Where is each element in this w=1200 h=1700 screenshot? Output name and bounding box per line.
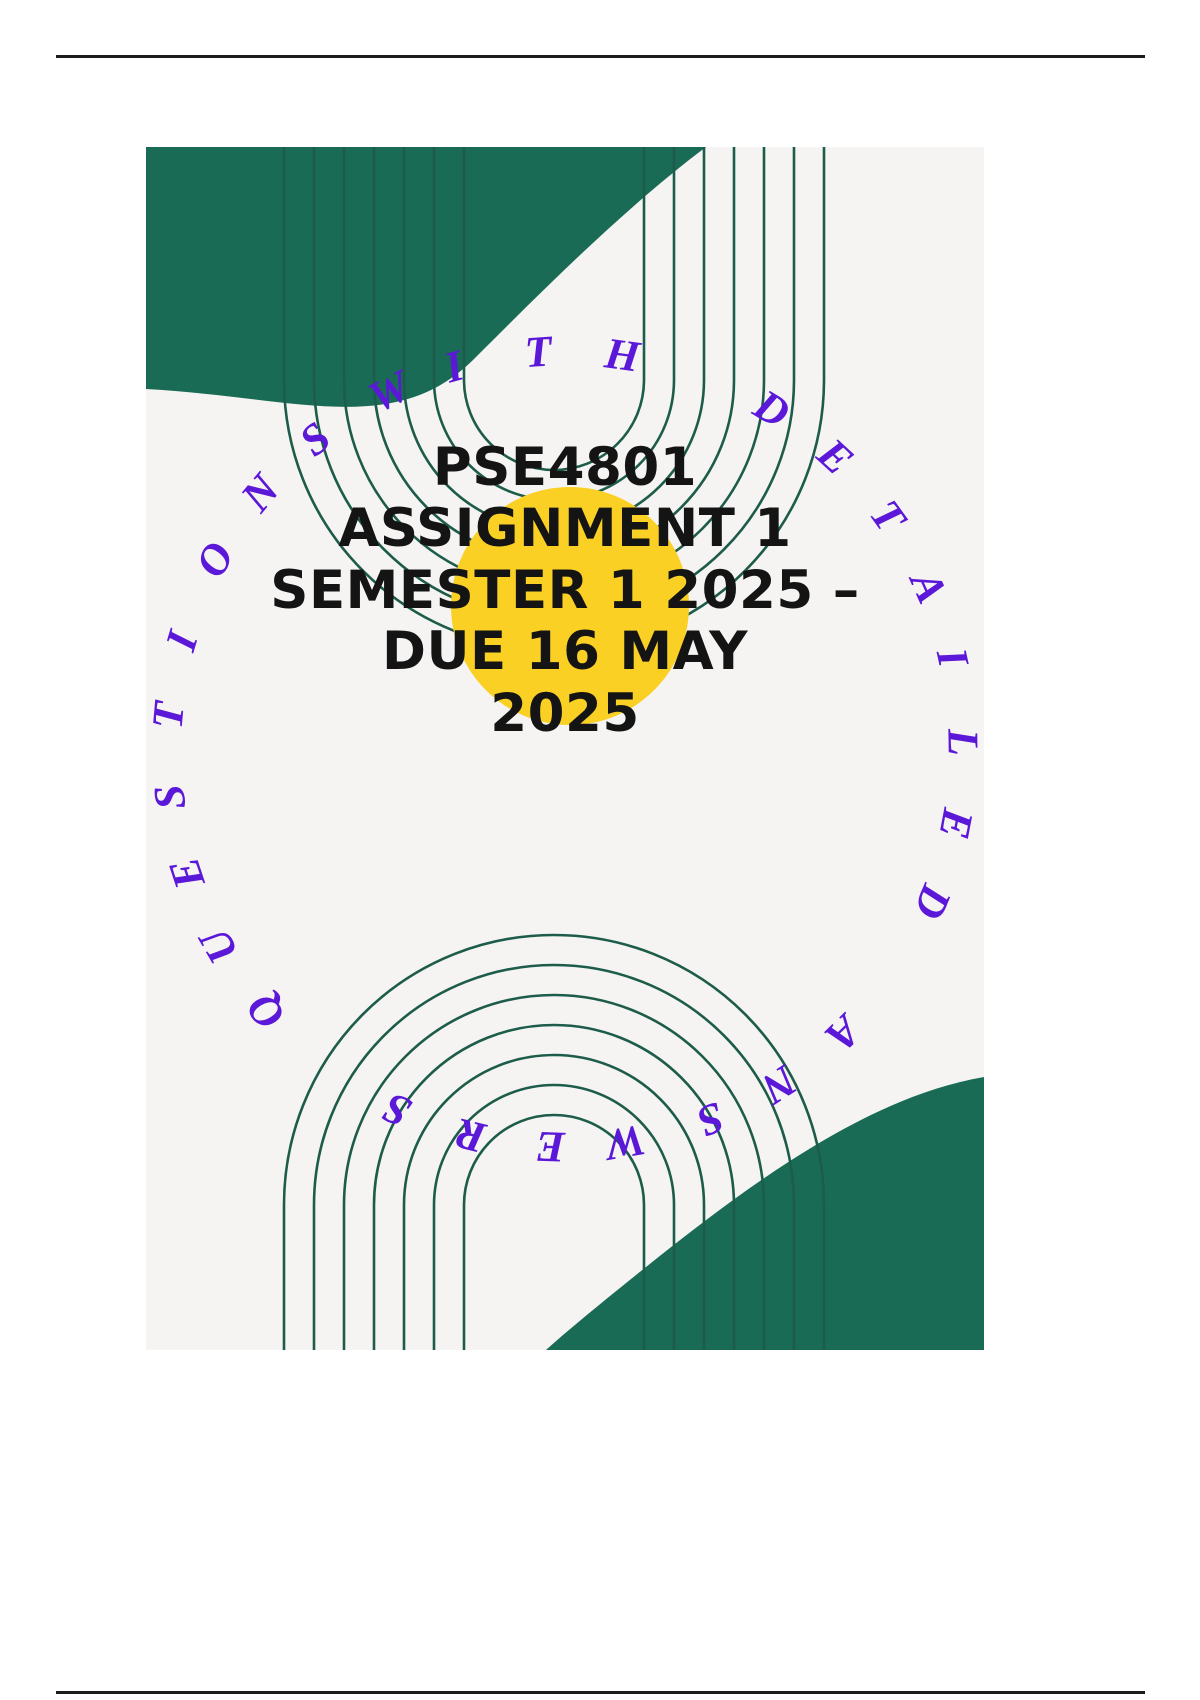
circular-text-char: Q bbox=[236, 982, 295, 1040]
cover-title-line-3: SEMESTER 1 2025 – bbox=[206, 560, 924, 621]
bottom-horizontal-rule bbox=[56, 1691, 1145, 1694]
circular-text-char: S bbox=[375, 1081, 419, 1138]
circular-text-char: E bbox=[535, 1120, 566, 1172]
circular-text-char: E bbox=[928, 804, 984, 842]
cover-title-line-2: ASSIGNMENT 1 bbox=[206, 498, 924, 559]
cover-title-line-5: 2025 bbox=[206, 683, 924, 744]
cover-title-line-1: PSE4801 bbox=[206, 437, 924, 498]
circular-text-char: D bbox=[903, 877, 962, 926]
circular-text-char: H bbox=[602, 327, 643, 382]
cover-page-card: WITHDETAILEDANSWERSQUESTIONS PSE4801ASSI… bbox=[146, 147, 984, 1350]
circular-text-char: I bbox=[926, 643, 979, 671]
cover-title: PSE4801ASSIGNMENT 1SEMESTER 1 2025 –DUE … bbox=[206, 437, 924, 744]
circular-text-char: E bbox=[158, 851, 216, 895]
circular-text-char: R bbox=[450, 1107, 491, 1163]
circular-text-char: W bbox=[360, 360, 418, 423]
circular-badge-text: WITHDETAILEDANSWERSQUESTIONS bbox=[146, 147, 984, 1350]
circular-text-char: I bbox=[155, 625, 209, 656]
circular-text-char: T bbox=[146, 699, 195, 730]
circular-text-char: I bbox=[439, 339, 469, 393]
circular-text-char: L bbox=[937, 728, 984, 756]
top-horizontal-rule bbox=[56, 55, 1145, 58]
circular-text-char: U bbox=[189, 919, 249, 972]
circular-text-char: A bbox=[815, 1005, 872, 1062]
cover-title-line-4: DUE 16 MAY bbox=[206, 621, 924, 682]
circular-text-char: N bbox=[752, 1054, 806, 1114]
circular-text-char: T bbox=[523, 325, 553, 378]
circular-text-char: S bbox=[690, 1091, 731, 1147]
circular-text-char: S bbox=[146, 781, 196, 811]
circular-text-char: D bbox=[745, 378, 799, 438]
circular-text-char: W bbox=[602, 1114, 649, 1171]
